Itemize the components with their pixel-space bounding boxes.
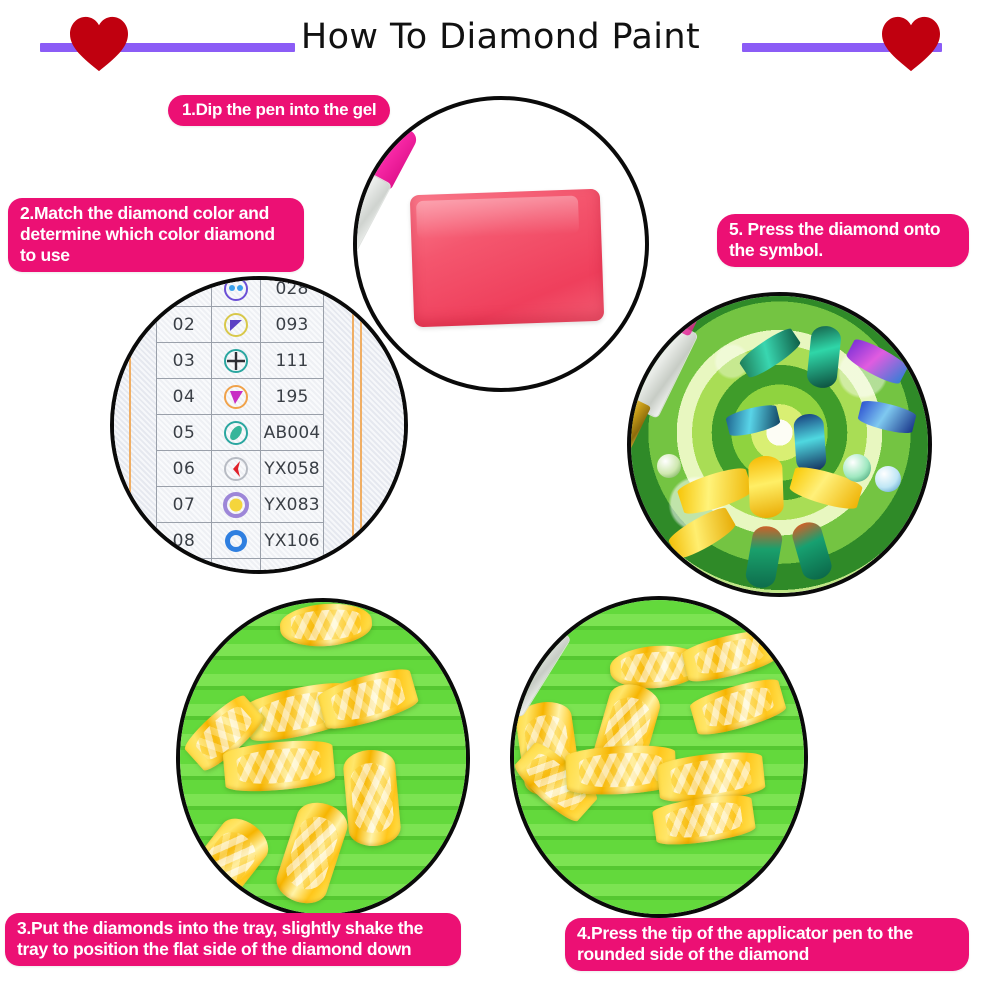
legend-symbol-leaf bbox=[212, 559, 261, 575]
legend-code: 028 bbox=[261, 276, 324, 307]
step-1-label: 1.Dip the pen into the gel bbox=[168, 95, 390, 126]
legend-number: 07 bbox=[157, 487, 212, 523]
diamond-color-legend-table: 01 028 02 093 03 111 04 bbox=[156, 276, 324, 574]
legend-number: 03 bbox=[157, 343, 212, 379]
legend-number: 04 bbox=[157, 379, 212, 415]
legend-number: 05 bbox=[157, 415, 212, 451]
legend-symbol-triangle-down bbox=[212, 379, 261, 415]
legend-code: 111 bbox=[261, 343, 324, 379]
legend-symbol-arrow-left bbox=[212, 451, 261, 487]
legend-number: 06 bbox=[157, 451, 212, 487]
legend-number: 09 bbox=[157, 559, 212, 575]
legend-symbol-ring bbox=[212, 523, 261, 559]
step-2-illustration: 01 028 02 093 03 111 04 bbox=[110, 276, 408, 574]
legend-code: YX058 bbox=[261, 451, 324, 487]
step-5-label: 5. Press the diamond onto the symbol. bbox=[717, 214, 969, 267]
page-title: How To Diamond Paint bbox=[0, 17, 1001, 57]
legend-number: 08 bbox=[157, 523, 212, 559]
legend-code: YX125 bbox=[261, 559, 324, 575]
legend-code: AB004 bbox=[261, 415, 324, 451]
legend-number: 01 bbox=[157, 276, 212, 307]
page-header: How To Diamond Paint bbox=[0, 0, 1001, 80]
step-3-label: 3.Put the diamonds into the tray, slight… bbox=[5, 913, 461, 966]
legend-code: YX083 bbox=[261, 487, 324, 523]
gem-yellow bbox=[748, 455, 784, 518]
paper-guide-line bbox=[129, 276, 131, 574]
gem-round bbox=[657, 454, 681, 478]
paper-guide-line bbox=[360, 276, 362, 574]
gem bbox=[793, 413, 827, 473]
table-row: 02 093 bbox=[157, 307, 324, 343]
table-row: 05 AB004 bbox=[157, 415, 324, 451]
legend-symbol-slash-oval bbox=[212, 415, 261, 451]
table-row: 07 YX083 bbox=[157, 487, 324, 523]
legend-symbol-plus bbox=[212, 343, 261, 379]
legend-code: YX106 bbox=[261, 523, 324, 559]
legend-number: 02 bbox=[157, 307, 212, 343]
legend-code: 195 bbox=[261, 379, 324, 415]
gel-pad bbox=[410, 189, 604, 328]
table-row: 08 YX106 bbox=[157, 523, 324, 559]
gem-round bbox=[843, 454, 871, 482]
step-3-illustration bbox=[176, 598, 470, 918]
table-row: 03 111 bbox=[157, 343, 324, 379]
paper-guide-line bbox=[352, 276, 354, 574]
legend-symbol-eyes bbox=[212, 276, 261, 307]
legend-symbol-filled-dot bbox=[212, 487, 261, 523]
step-4-illustration bbox=[510, 596, 808, 918]
legend-symbol-triangle-right bbox=[212, 307, 261, 343]
table-row: 06 YX058 bbox=[157, 451, 324, 487]
table-row: 01 028 bbox=[157, 276, 324, 307]
step-2-label: 2.Match the diamond color and determine … bbox=[8, 198, 304, 272]
step-4-label: 4.Press the tip of the applicator pen to… bbox=[565, 918, 969, 971]
legend-code: 093 bbox=[261, 307, 324, 343]
table-row: 09 YX125 bbox=[157, 559, 324, 575]
diamond bbox=[342, 748, 402, 848]
step-5-illustration bbox=[627, 292, 932, 597]
table-row: 04 195 bbox=[157, 379, 324, 415]
gem-round bbox=[875, 466, 901, 492]
